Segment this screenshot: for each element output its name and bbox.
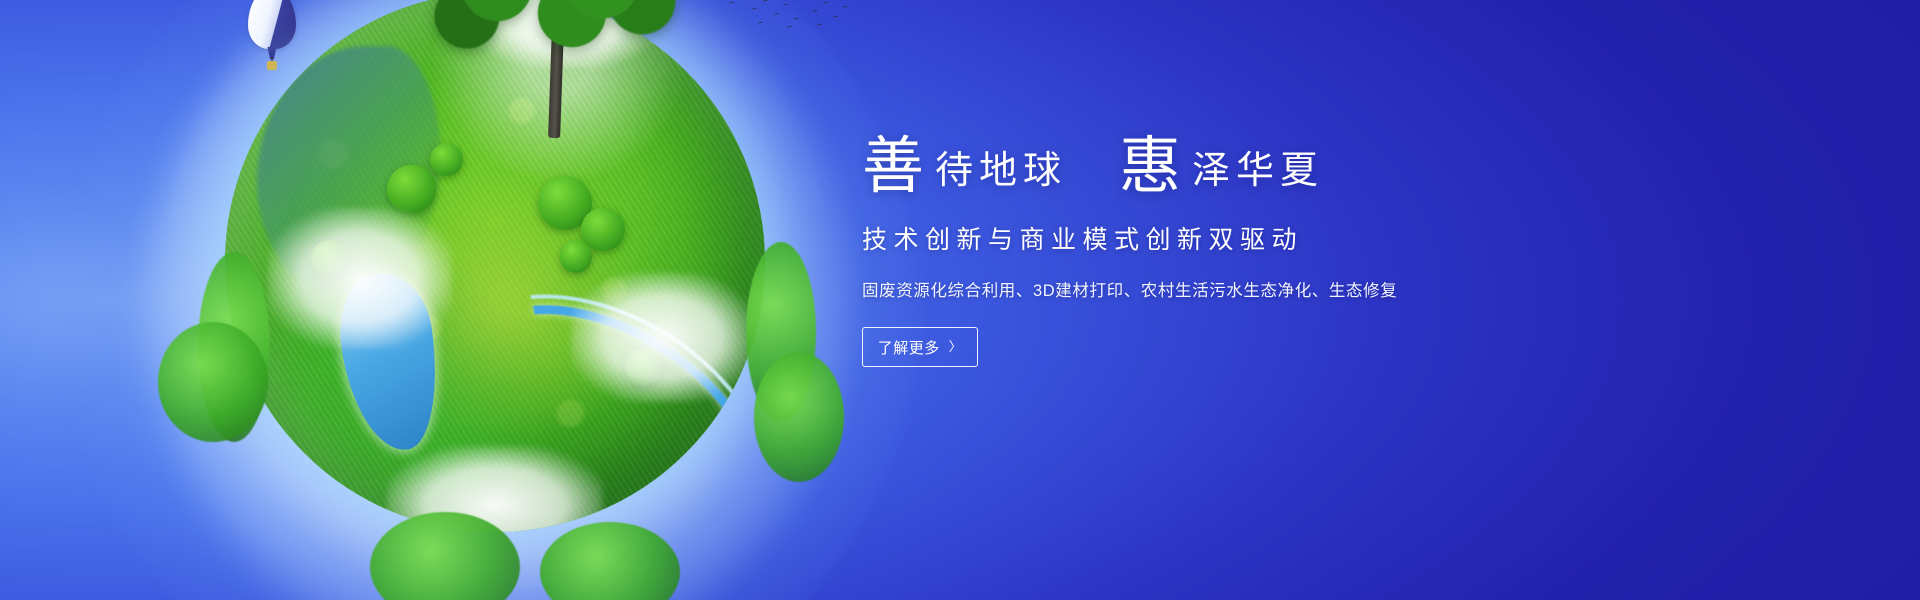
tree-trunk — [548, 28, 564, 138]
river-highlight — [397, 239, 765, 532]
earth-artwork — [150, 0, 840, 600]
surface-cloud — [268, 208, 452, 348]
chevron-right-icon: 〉 — [949, 340, 963, 353]
atmosphere-glow — [60, 0, 920, 600]
hero-banner: 善 待地球 惠 泽华夏 技术创新与商业模式创新双驱动 固废资源化综合利用、3D建… — [0, 0, 1920, 600]
bush — [538, 176, 592, 230]
bush — [560, 240, 592, 272]
surface-cloud — [473, 0, 657, 68]
headline-rest-2: 泽华夏 — [1182, 152, 1324, 190]
side-tree — [746, 242, 816, 422]
headline-char-1: 善 — [862, 136, 925, 198]
side-tree — [198, 252, 270, 442]
headline-rest-1: 待地球 — [925, 152, 1067, 190]
side-tree — [754, 352, 844, 482]
bush — [581, 208, 624, 251]
surface-cloud — [387, 446, 603, 532]
hot-air-balloon-icon — [242, 0, 302, 83]
hero-copy: 善 待地球 惠 泽华夏 技术创新与商业模式创新双驱动 固废资源化综合利用、3D建… — [862, 132, 1562, 367]
bush — [311, 240, 349, 278]
top-tree — [432, 0, 682, 138]
learn-more-label: 了解更多 — [878, 337, 940, 358]
headline-char-2: 惠 — [1119, 136, 1182, 198]
river — [412, 254, 765, 532]
meadow-highlight — [355, 186, 647, 434]
description: 固废资源化综合利用、3D建材打印、农村生活污水生态净化、生态修复 — [862, 277, 1562, 301]
bush — [430, 143, 462, 175]
bush — [387, 165, 436, 214]
side-tree — [540, 522, 680, 600]
side-tree — [158, 322, 268, 442]
tree-canopy — [432, 0, 682, 58]
mountain-ridge — [257, 46, 441, 294]
headline: 善 待地球 惠 泽华夏 — [862, 132, 1562, 194]
atmosphere-inner-glow — [150, 0, 850, 600]
side-tree — [370, 512, 520, 600]
bush — [625, 348, 663, 386]
grass-texture — [225, 0, 765, 532]
subtitle: 技术创新与商业模式创新双驱动 — [862, 220, 1562, 256]
learn-more-button[interactable]: 了解更多 〉 — [862, 327, 978, 367]
surface-cloud — [571, 273, 755, 403]
green-globe — [225, 0, 765, 532]
bird-flock-icon — [725, 0, 865, 40]
lake — [332, 267, 448, 456]
